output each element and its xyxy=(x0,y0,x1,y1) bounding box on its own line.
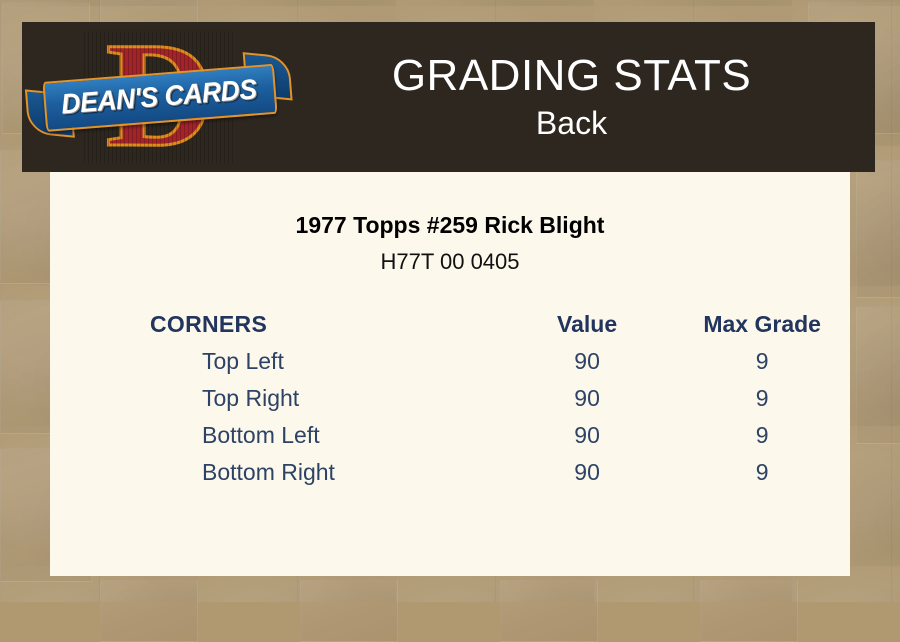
background-card-tile xyxy=(100,580,198,642)
table-head: CORNERS Value Max Grade xyxy=(50,307,850,342)
background-card-tile xyxy=(700,580,798,642)
corner-label: Bottom Right xyxy=(50,453,500,490)
grading-stats-table: CORNERS Value Max Grade Top Left909Top R… xyxy=(50,307,850,490)
column-header-corners: CORNERS xyxy=(50,307,500,342)
background-card-tile xyxy=(856,160,900,298)
logo-wordmark: DEAN'S CARDS xyxy=(50,67,267,128)
column-header-value: Value xyxy=(500,307,674,342)
header-titles: GRADING STATS Back xyxy=(292,50,875,144)
corner-value: 90 xyxy=(500,379,674,416)
header-bar: D DEAN'S CARDS GRADING STATS Back xyxy=(22,22,875,172)
corner-value: 90 xyxy=(500,342,674,379)
corner-max-grade: 9 xyxy=(674,416,850,453)
background-card-tile xyxy=(300,580,398,642)
card-title: 1977 Topps #259 Rick Blight xyxy=(50,212,850,239)
page-title: GRADING STATS xyxy=(292,50,851,102)
background-card-tile xyxy=(856,306,900,444)
table-row: Bottom Right909 xyxy=(50,453,850,490)
corner-value: 90 xyxy=(500,416,674,453)
deans-cards-logo[interactable]: D DEAN'S CARDS xyxy=(22,23,292,171)
page-subtitle: Back xyxy=(292,102,851,144)
table-row: Bottom Left909 xyxy=(50,416,850,453)
corner-label: Top Right xyxy=(50,379,500,416)
column-header-max-grade: Max Grade xyxy=(674,307,850,342)
corner-max-grade: 9 xyxy=(674,453,850,490)
logo-ribbon: DEAN'S CARDS xyxy=(30,59,286,137)
corner-max-grade: 9 xyxy=(674,342,850,379)
content-panel: 1977 Topps #259 Rick Blight H77T 00 0405… xyxy=(50,172,850,576)
table-row: Top Left909 xyxy=(50,342,850,379)
table-header-row: CORNERS Value Max Grade xyxy=(50,307,850,342)
background-card-tile xyxy=(500,580,598,642)
corner-label: Bottom Left xyxy=(50,416,500,453)
card-code: H77T 00 0405 xyxy=(50,249,850,275)
table-row: Top Right909 xyxy=(50,379,850,416)
corner-value: 90 xyxy=(500,453,674,490)
corner-max-grade: 9 xyxy=(674,379,850,416)
table-body: Top Left909Top Right909Bottom Left909Bot… xyxy=(50,342,850,490)
corner-label: Top Left xyxy=(50,342,500,379)
